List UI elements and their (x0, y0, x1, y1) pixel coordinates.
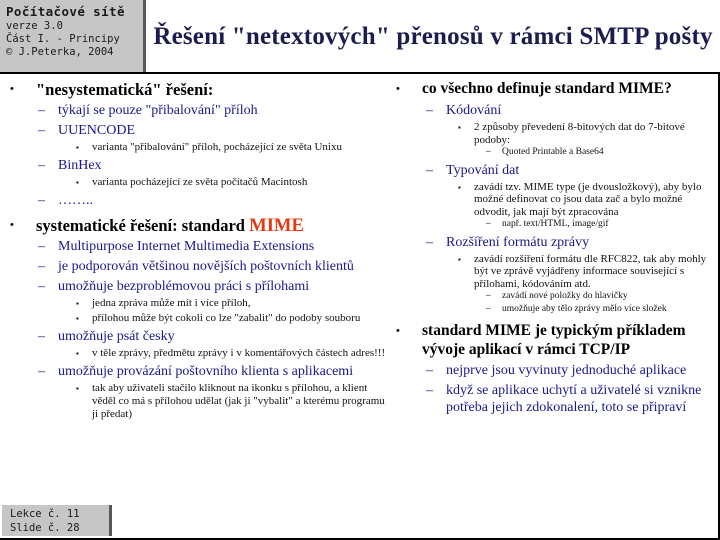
bullet-text: UUENCODE (58, 122, 386, 139)
bullet-dash-icon: – (426, 382, 446, 399)
bullet-level2: – UUENCODE (4, 122, 386, 139)
bullet-level3: ▪ zavádí rozšíření formátu dle RFC822, t… (390, 253, 714, 291)
bullet-level3: ▪ 2 způsoby převedení 8-bitových dat do … (390, 121, 714, 146)
bullet-text: přílohou může být cokoli co lze "zabalit… (92, 312, 386, 325)
bullet-text: umožňuje aby tělo zprávy mělo více slože… (502, 304, 714, 315)
bullet-dash-icon: – (426, 162, 446, 179)
bullet-level3: ▪ jedna zpráva může mít i více příloh, (4, 297, 386, 310)
bullet-dot-icon: • (396, 80, 422, 99)
bullet-text: týkají se pouze "přibalování" příloh (58, 102, 386, 119)
bullet-square-icon: ▪ (458, 121, 474, 134)
bullet-level2: – umožňuje provázání poštovního klienta … (4, 363, 386, 380)
bullet-level3: ▪ varianta "přibalování" příloh, pocháze… (4, 141, 386, 154)
bullet-level3: ▪ varianta pocházející ze světa počítačů… (4, 176, 386, 189)
left-content-column: • "nesystematická" řešení: – týkají se p… (0, 72, 390, 538)
course-copyright: © J.Peterka, 2004 (6, 46, 143, 59)
bullet-text: Quoted Printable a Base64 (502, 147, 714, 158)
bullet-dash-icon: – (38, 258, 58, 275)
bullet-text: když se aplikace uchytí a uživatelé si v… (446, 382, 714, 416)
bullet-square-icon: ▪ (76, 347, 92, 360)
bullet-text-prefix: systematické řešení: standard (36, 216, 249, 235)
bullet-text: Typování dat (446, 162, 714, 179)
bullet-level3: ▪ tak aby uživateli stačilo kliknout na … (4, 382, 386, 421)
bullet-text: 2 způsoby převedení 8-bitových dat do 7-… (474, 121, 714, 146)
bullet-square-icon: ▪ (76, 297, 92, 310)
bullet-level2: – umožňuje psát česky (4, 328, 386, 345)
bullet-text: umožňuje bezproblémovou práci s příloham… (58, 278, 386, 295)
bullet-square-icon: ▪ (458, 253, 474, 266)
bullet-level2: – Typování dat (390, 162, 714, 179)
bullet-dash-icon: – (38, 122, 58, 139)
bullet-text: umožňuje psát česky (58, 328, 386, 345)
bullet-text: zavádí rozšíření formátu dle RFC822, tak… (474, 253, 714, 291)
bullet-level2: – Rozšíření formátu zprávy (390, 234, 714, 251)
bullet-dash-icon: – (38, 238, 58, 255)
bullet-level2: – Multipurpose Internet Multimedia Exten… (4, 238, 386, 255)
bullet-level1: • "nesystematická" řešení: (4, 80, 386, 99)
bullet-text: zavádí nové položky do hlavičky (502, 291, 714, 302)
bullet-level3: ▪ zavádí tzv. MIME type (je dvousložkový… (390, 181, 714, 219)
bullet-text: varianta "přibalování" příloh, pocházejí… (92, 141, 386, 154)
course-part: Část I. - Principy (6, 33, 143, 46)
bullet-text: co všechno definuje standard MIME? (422, 80, 714, 99)
bullet-text: Rozšíření formátu zprávy (446, 234, 714, 251)
bullet-level3: ▪ přílohou může být cokoli co lze "zabal… (4, 312, 386, 325)
bullet-dash-icon: – (486, 219, 502, 231)
bullet-dash-icon: – (38, 328, 58, 345)
bullet-square-icon: ▪ (76, 312, 92, 325)
bullet-dash-icon: – (486, 147, 502, 159)
bullet-level1: • systematické řešení: standard MIME (4, 216, 386, 235)
course-info-box: Počítačové sítě verze 3.0 Část I. - Prin… (0, 0, 146, 72)
bullet-dash-icon: – (38, 192, 58, 209)
slide-number: Slide č. 28 (10, 521, 109, 535)
bullet-text: v těle zprávy, předmětu zprávy i v komen… (92, 347, 386, 360)
bullet-level2: – Kódování (390, 102, 714, 119)
bullet-level4: – Quoted Printable a Base64 (390, 147, 714, 159)
bullet-level4: – umožňuje aby tělo zprávy mělo více slo… (390, 304, 714, 316)
bullet-text: BinHex (58, 157, 386, 174)
slide-footer-box: Lekce č. 11 Slide č. 28 (2, 505, 112, 536)
presentation-slide: Počítačové sítě verze 3.0 Část I. - Prin… (0, 0, 720, 540)
bullet-dash-icon: – (426, 234, 446, 251)
bullet-dash-icon: – (426, 362, 446, 379)
slide-content-columns: • "nesystematická" řešení: – týkají se p… (0, 72, 720, 538)
bullet-text: standard MIME je typickým příkladem vývo… (422, 322, 714, 359)
bullet-dash-icon: – (38, 157, 58, 174)
bullet-dash-icon: – (38, 102, 58, 119)
bullet-level2: – týkají se pouze "přibalování" příloh (4, 102, 386, 119)
bullet-square-icon: ▪ (76, 141, 92, 154)
bullet-text: např. text/HTML, image/gif (502, 219, 714, 230)
course-title: Počítačové sítě (6, 4, 143, 20)
bullet-level3: ▪ v těle zprávy, předmětu zprávy i v kom… (4, 347, 386, 360)
bullet-text: je podporován většinou novějších poštovn… (58, 258, 386, 275)
bullet-dash-icon: – (38, 278, 58, 295)
bullet-level1: • standard MIME je typickým příkladem vý… (390, 322, 714, 359)
bullet-square-icon: ▪ (458, 181, 474, 194)
course-version: verze 3.0 (6, 20, 143, 33)
bullet-text: Kódování (446, 102, 714, 119)
bullet-text: "nesystematická" řešení: (36, 80, 386, 99)
bullet-text: jedna zpráva může mít i více příloh, (92, 297, 386, 310)
bullet-text: systematické řešení: standard MIME (36, 216, 386, 235)
bullet-dash-icon: – (38, 363, 58, 380)
bullet-level4: – zavádí nové položky do hlavičky (390, 291, 714, 303)
bullet-dot-icon: • (10, 80, 36, 99)
right-content-column: • co všechno definuje standard MIME? – K… (390, 72, 720, 538)
bullet-level2: – když se aplikace uchytí a uživatelé si… (390, 382, 714, 416)
mime-accent-label: MIME (249, 215, 304, 236)
bullet-level2: – nejprve jsou vyvinuty jednoduché aplik… (390, 362, 714, 379)
slide-header: Počítačové sítě verze 3.0 Část I. - Prin… (0, 0, 720, 72)
bullet-level4: – např. text/HTML, image/gif (390, 219, 714, 231)
bullet-dash-icon: – (486, 291, 502, 303)
bullet-text: varianta pocházející ze světa počítačů M… (92, 176, 386, 189)
bullet-level2: – …….. (4, 192, 386, 209)
bullet-text: tak aby uživateli stačilo kliknout na ik… (92, 382, 386, 421)
slide-title: Řešení "netextových" přenosů v rámci SMT… (150, 2, 716, 70)
lecture-number: Lekce č. 11 (10, 507, 109, 521)
bullet-text: …….. (58, 192, 386, 209)
bullet-level1: • co všechno definuje standard MIME? (390, 80, 714, 99)
bullet-dash-icon: – (486, 304, 502, 316)
bullet-square-icon: ▪ (76, 176, 92, 189)
bullet-dot-icon: • (396, 322, 422, 341)
bullet-text: nejprve jsou vyvinuty jednoduché aplikac… (446, 362, 714, 379)
bullet-dash-icon: – (426, 102, 446, 119)
bullet-text: zavádí tzv. MIME type (je dvousložkový),… (474, 181, 714, 219)
bullet-level2: – je podporován většinou novějších pošto… (4, 258, 386, 275)
bullet-dot-icon: • (10, 216, 36, 235)
bullet-level2: – BinHex (4, 157, 386, 174)
bullet-square-icon: ▪ (76, 382, 92, 395)
bullet-text: Multipurpose Internet Multimedia Extensi… (58, 238, 386, 255)
bullet-level2: – umožňuje bezproblémovou práci s příloh… (4, 278, 386, 295)
bullet-text: umožňuje provázání poštovního klienta s … (58, 363, 386, 380)
